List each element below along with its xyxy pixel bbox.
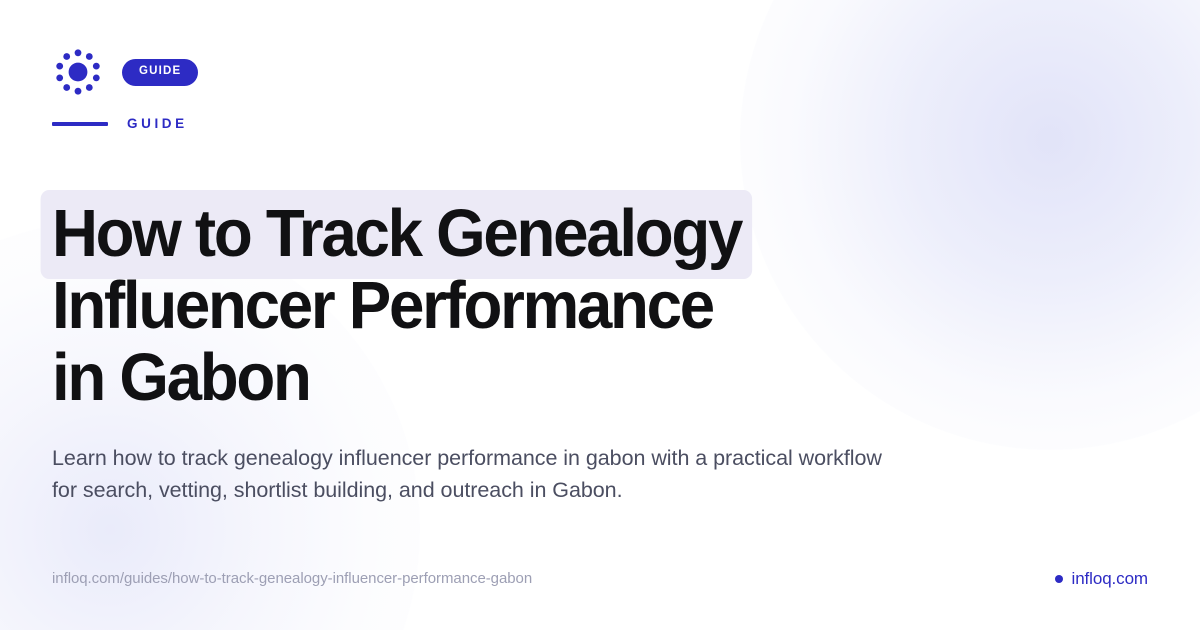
guide-badge: GUIDE — [122, 59, 198, 86]
page-title: How to Track Genealogy Influencer Perfor… — [52, 198, 892, 414]
headline-line-1: How to Track Genealogy — [52, 198, 850, 270]
page-description: Learn how to track genealogy influencer … — [52, 443, 902, 506]
headline-line-2: Influencer Performance — [52, 270, 850, 342]
sun-burst-dots-logo-icon — [52, 46, 104, 98]
horizontal-rule-icon — [52, 122, 108, 126]
headline-highlight: How to Track Genealogy — [41, 190, 753, 279]
brand-header: GUIDE — [52, 46, 198, 98]
bullet-dot-icon — [1055, 575, 1063, 583]
footer-url: infloq.com/guides/how-to-track-genealogy… — [52, 571, 532, 586]
headline-line-3: in Gabon — [52, 342, 850, 414]
footer-brand: infloq.com — [1055, 570, 1148, 587]
eyebrow: GUIDE — [52, 117, 188, 131]
footer-brand-label: infloq.com — [1072, 570, 1148, 587]
guide-social-card: GUIDE GUIDE How to Track Genealogy Influ… — [0, 0, 1200, 630]
eyebrow-label: GUIDE — [127, 117, 188, 131]
